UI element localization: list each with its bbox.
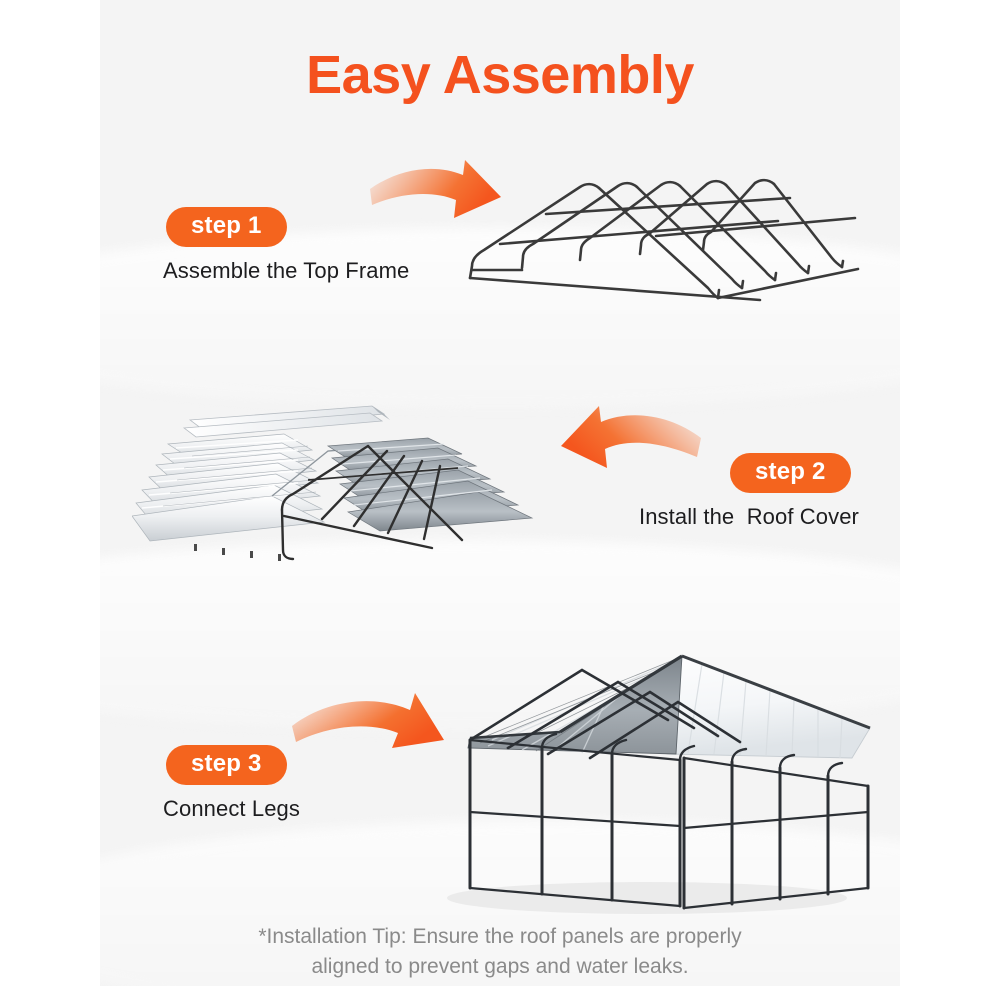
completed-carport-illustration xyxy=(432,636,872,916)
installation-tip: *Installation Tip: Ensure the roof panel… xyxy=(0,922,1000,982)
step-3-label: Connect Legs xyxy=(163,796,300,822)
installation-tip-line-1: *Installation Tip: Ensure the roof panel… xyxy=(0,922,1000,952)
installation-tip-line-2: aligned to prevent gaps and water leaks. xyxy=(0,952,1000,982)
page-title: Easy Assembly xyxy=(0,46,1000,105)
step-3-badge: step 3 xyxy=(166,745,287,785)
roof-truss-frame-illustration xyxy=(460,158,870,303)
step-1-badge: step 1 xyxy=(166,207,287,247)
curved-arrow-left-icon xyxy=(545,402,705,512)
step-2-badge: step 2 xyxy=(730,453,851,493)
assembly-infographic: Easy Assembly step 1 Assemble the Top Fr… xyxy=(0,0,1000,1000)
step-1-label: Assemble the Top Frame xyxy=(163,258,409,284)
roof-panels-installation-illustration xyxy=(132,398,562,588)
